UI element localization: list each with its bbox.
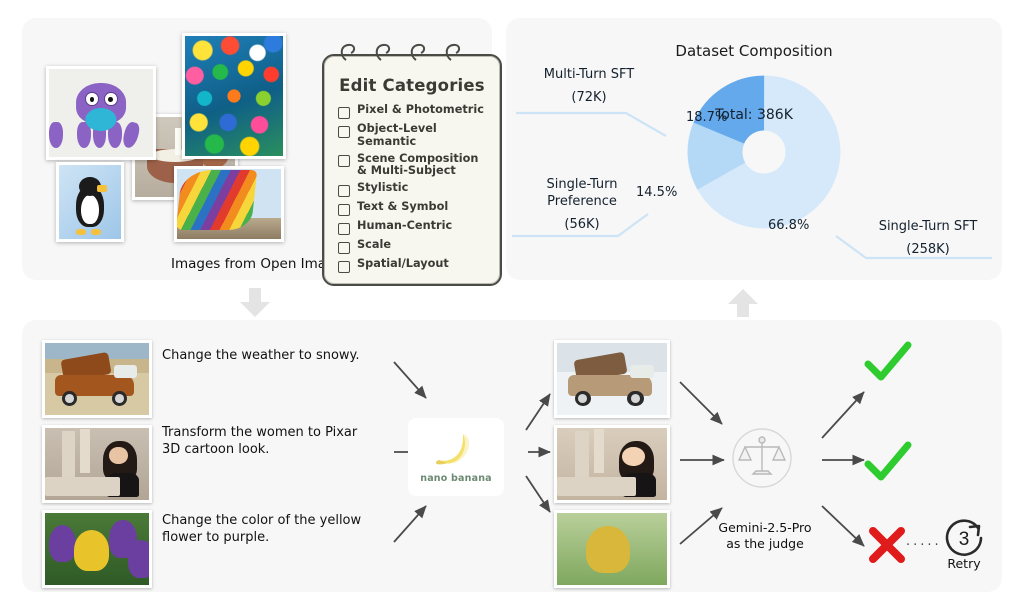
chart-label-single-turn-preference: Single-Turn Preference (56K)	[512, 176, 652, 233]
nano-banana-label: nano banana	[420, 473, 492, 484]
category-item[interactable]: Human-Centric	[338, 220, 492, 235]
checkbox-icon[interactable]	[338, 242, 350, 254]
retry-dots: ·····	[906, 538, 942, 553]
category-item[interactable]: Spatial/Layout	[338, 258, 492, 273]
output-image-woman-pixar-style	[554, 425, 670, 503]
checkbox-icon[interactable]	[338, 223, 350, 235]
checkbox-icon[interactable]	[338, 107, 350, 119]
category-label: Scale	[357, 239, 391, 252]
checkbox-icon[interactable]	[338, 204, 350, 216]
input-image-orange-car-open-hood	[42, 340, 152, 418]
category-label: Pixel & Photometric	[357, 104, 484, 117]
edit-categories-list: Pixel & Photometric Object-Level Semanti…	[338, 104, 492, 277]
category-label: Object-Level Semantic	[357, 123, 492, 148]
spiral-binding-icon	[338, 42, 486, 62]
image-colorful-flower-painting	[182, 33, 286, 159]
label-name: Single-Turn Preference	[546, 177, 617, 209]
category-item[interactable]: Scale	[338, 239, 492, 254]
checkbox-icon[interactable]	[338, 261, 350, 273]
label-name: Single-Turn SFT	[879, 219, 978, 234]
input-image-yellow-iris-among-purple	[42, 510, 152, 588]
prompt-text: Change the color of the yellow flower to…	[162, 512, 392, 546]
label-count: (258K)	[854, 241, 1002, 258]
retry-circle-icon[interactable]: 3	[940, 514, 988, 562]
nano-banana-model-card[interactable]: nano banana	[408, 418, 504, 496]
check-mark-icon	[862, 340, 914, 384]
pipeline-panel: Change the weather to snowy. Transform t…	[22, 320, 1002, 592]
category-item[interactable]: Text & Symbol	[338, 201, 492, 216]
image-rainbow-hot-air-balloon	[174, 166, 284, 242]
cross-mark-icon	[866, 524, 908, 566]
retry-label: Retry	[928, 556, 1000, 571]
category-item[interactable]: Scene Composition & Multi-Subject	[338, 153, 492, 178]
notepad-title: Edit Categories	[324, 76, 500, 95]
checkbox-icon[interactable]	[338, 155, 350, 167]
dataset-composition-panel: Dataset Composition 18.7% 14.5% 66.8% To…	[506, 18, 1002, 280]
category-label: Human-Centric	[357, 220, 452, 233]
category-label: Stylistic	[357, 182, 408, 195]
down-block-arrow-icon	[238, 288, 272, 318]
chart-label-multi-turn-sft: Multi-Turn SFT (72K)	[514, 66, 664, 106]
input-image-woman-on-balcony	[42, 425, 152, 503]
checkbox-icon[interactable]	[338, 185, 350, 197]
balance-scale-icon	[731, 427, 793, 489]
chart-total-label: Total: 386K	[506, 107, 1002, 123]
label-count: (72K)	[514, 89, 664, 106]
svg-text:3: 3	[959, 529, 970, 550]
category-label: Scene Composition & Multi-Subject	[357, 153, 478, 178]
category-item[interactable]: Pixel & Photometric	[338, 104, 492, 119]
category-item[interactable]: Object-Level Semantic	[338, 123, 492, 148]
image-penguin-cartoon	[56, 162, 124, 242]
checkbox-icon[interactable]	[338, 126, 350, 138]
category-label: Text & Symbol	[357, 201, 448, 214]
prompt-text: Change the weather to snowy.	[162, 347, 392, 364]
pct-label-single-turn: 66.8%	[768, 218, 809, 233]
category-item[interactable]: Stylistic	[338, 182, 492, 197]
chart-label-single-turn-sft: Single-Turn SFT (258K)	[854, 218, 1002, 258]
output-image-car-in-snow	[554, 340, 670, 418]
check-mark-icon	[862, 440, 914, 484]
label-name: Multi-Turn SFT	[544, 67, 634, 82]
image-purple-octopus-toy	[46, 66, 156, 160]
banana-icon	[433, 431, 479, 471]
prompt-text: Transform the women to Pixar 3D cartoon …	[162, 424, 392, 458]
source-images-panel: Images from Open Image Edit Categories P…	[22, 18, 492, 280]
edit-categories-notepad: Edit Categories Pixel & Photometric Obje…	[322, 54, 502, 286]
judge-label: Gemini-2.5-Pro as the judge	[690, 520, 840, 552]
category-label: Spatial/Layout	[357, 258, 449, 271]
donut-chart	[666, 54, 862, 250]
label-count: (56K)	[512, 216, 652, 233]
up-block-arrow-icon	[726, 288, 760, 318]
output-image-yellow-iris-on-green	[554, 510, 670, 588]
